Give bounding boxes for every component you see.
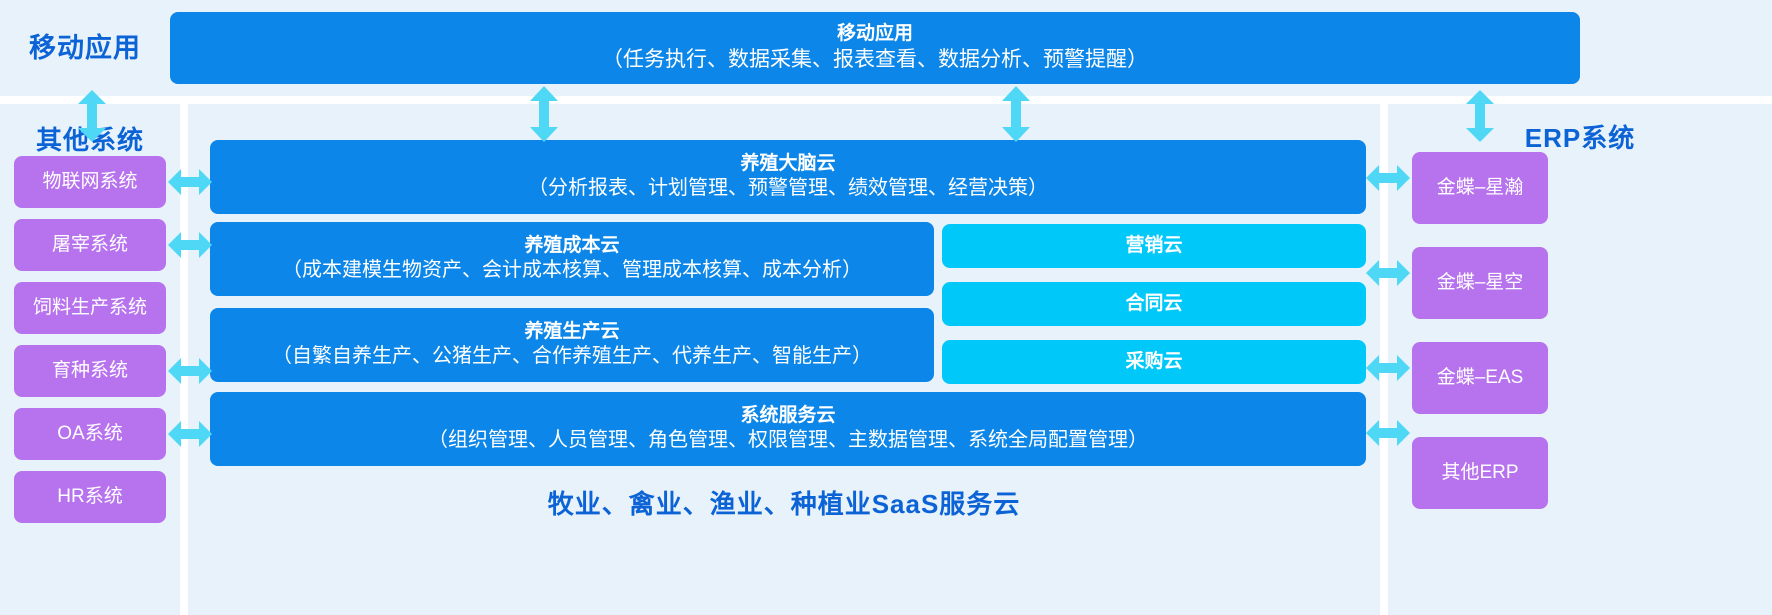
right-item-kingdee-xingkong[interactable]: 金蝶–星空 — [1412, 247, 1548, 319]
left-item-iot[interactable]: 物联网系统 — [14, 156, 166, 208]
arrow-mobile-to-other-vertical-icon — [77, 90, 107, 142]
arrow-center-to-othererp-icon — [1366, 420, 1410, 446]
production-cloud-title: 养殖生产云 — [524, 320, 619, 344]
cost-cloud-title: 养殖成本云 — [524, 234, 619, 258]
arrow-center-to-xinghan-icon — [1366, 165, 1410, 191]
arrow-mobile-to-brain-right-vertical-icon — [1001, 86, 1031, 142]
service-cloud-title: 系统服务云 — [740, 404, 835, 428]
brain-cloud-box[interactable]: 养殖大脑云 （分析报表、计划管理、预警管理、绩效管理、经营决策） — [210, 140, 1366, 214]
cost-cloud-subtitle: （成本建模生物资产、会计成本核算、管理成本核算、成本分析） — [282, 258, 862, 284]
mobile-app-title: 移动应用 — [837, 22, 913, 46]
right-item-other-erp[interactable]: 其他ERP — [1412, 437, 1548, 509]
left-item-slaughter[interactable]: 屠宰系统 — [14, 219, 166, 271]
production-cloud-subtitle: （自繁自养生产、公猪生产、合作养殖生产、代养生产、智能生产） — [272, 344, 872, 370]
arrow-mobile-to-erp-vertical-icon — [1465, 90, 1495, 142]
right-item-kingdee-eas[interactable]: 金蝶–EAS — [1412, 342, 1548, 414]
left-item-oa[interactable]: OA系统 — [14, 408, 166, 460]
service-cloud-box[interactable]: 系统服务云 （组织管理、人员管理、角色管理、权限管理、主数据管理、系统全局配置管… — [210, 392, 1366, 466]
arrow-center-to-xingkong-icon — [1366, 260, 1410, 286]
left-item-hr[interactable]: HR系统 — [14, 471, 166, 523]
marketing-cloud-box[interactable]: 营销云 — [942, 224, 1366, 268]
contract-cloud-box[interactable]: 合同云 — [942, 282, 1366, 326]
arrow-breeding-to-center-icon — [168, 358, 212, 384]
mobile-app-section-label: 移动应用 — [0, 26, 170, 65]
brain-cloud-title: 养殖大脑云 — [740, 152, 835, 176]
saas-service-cloud-footer-label: 牧业、禽业、渔业、种植业SaaS服务云 — [188, 484, 1380, 521]
arrow-mobile-to-brain-left-vertical-icon — [529, 86, 559, 142]
arrow-iot-to-center-icon — [168, 169, 212, 195]
arrow-center-to-eas-icon — [1366, 355, 1410, 381]
brain-cloud-subtitle: （分析报表、计划管理、预警管理、绩效管理、经营决策） — [528, 176, 1048, 202]
right-item-kingdee-xinghan[interactable]: 金蝶–星瀚 — [1412, 152, 1548, 224]
mobile-app-subtitle: （任务执行、数据采集、报表查看、数据分析、预警提醒） — [602, 47, 1148, 74]
left-item-feed[interactable]: 饲料生产系统 — [14, 282, 166, 334]
production-cloud-box[interactable]: 养殖生产云 （自繁自养生产、公猪生产、合作养殖生产、代养生产、智能生产） — [210, 308, 934, 382]
arrow-oa-to-center-icon — [168, 421, 212, 447]
left-item-breeding[interactable]: 育种系统 — [14, 345, 166, 397]
erp-systems-heading: ERP系统 — [1388, 118, 1772, 155]
arrow-slaughter-to-center-icon — [168, 232, 212, 258]
cost-cloud-box[interactable]: 养殖成本云 （成本建模生物资产、会计成本核算、管理成本核算、成本分析） — [210, 222, 934, 296]
service-cloud-subtitle: （组织管理、人员管理、角色管理、权限管理、主数据管理、系统全局配置管理） — [428, 428, 1148, 454]
purchase-cloud-box[interactable]: 采购云 — [942, 340, 1366, 384]
mobile-app-banner[interactable]: 移动应用 （任务执行、数据采集、报表查看、数据分析、预警提醒） — [170, 12, 1580, 84]
